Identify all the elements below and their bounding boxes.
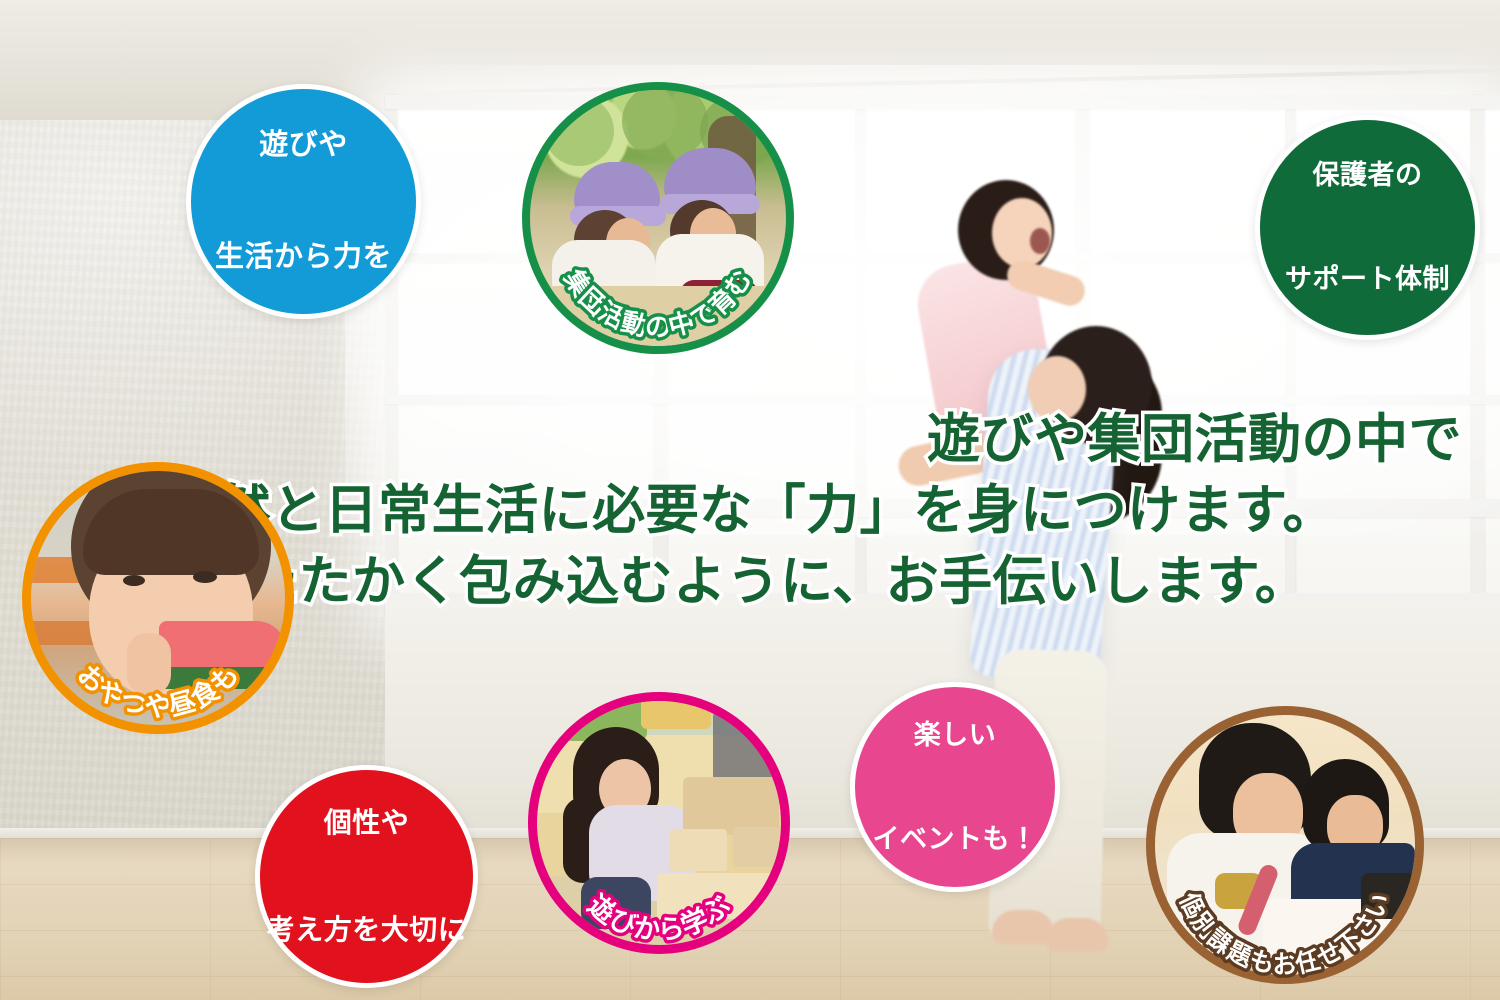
- badge-individuality[interactable]: 個性や 考え方を大切に: [255, 765, 478, 988]
- svg-text:おやつや昼食も: おやつや昼食も: [71, 659, 244, 722]
- arc-caption-snack-lunch: おやつや昼食も: [22, 462, 294, 734]
- arc-caption-homework-help: 個別課題もお任せ下さい: [1146, 706, 1424, 984]
- caption-homework-help: 個別課題もお任せ下さい: [1173, 888, 1396, 979]
- badge-fun-events-line-2: イベントも！: [873, 822, 1038, 857]
- caption-learn-by-play: 遊びから学ぶ: [582, 889, 735, 946]
- badge-play-and-life-line-1: 遊びや: [215, 127, 392, 164]
- photo-circle-learn-by-play[interactable]: 遊びから学ぶ: [528, 692, 790, 954]
- badge-fun-events-line-1: 楽しい: [873, 718, 1038, 753]
- svg-text:個別課題もお任せ下さい: 個別課題もお任せ下さい: [1173, 888, 1396, 979]
- badge-guardian-support[interactable]: 保護者の サポート体制: [1255, 115, 1480, 340]
- badge-play-and-life-line-2: 生活から力を: [215, 239, 392, 276]
- photo-circle-group-activity[interactable]: 集団活動の中で育む: [522, 82, 794, 354]
- badge-individuality-line-1: 個性や: [267, 805, 467, 841]
- badge-play-and-life[interactable]: 遊びや 生活から力を: [186, 84, 421, 319]
- badge-fun-events[interactable]: 楽しい イベントも！: [850, 682, 1060, 892]
- arc-caption-group-activity: 集団活動の中で育む: [522, 82, 794, 354]
- badge-guardian-support-line-2: サポート体制: [1285, 262, 1450, 297]
- badge-guardian-support-line-1: 保護者の: [1285, 158, 1450, 193]
- svg-text:集団活動の中で育む: 集団活動の中で育む: [558, 263, 758, 342]
- hero-banner: 遊びや集団活動の中で 自然と日常生活に必要な「力」を身につけます。 あたたかく包…: [0, 0, 1500, 1000]
- photo-circle-snack-lunch[interactable]: おやつや昼食も: [22, 462, 294, 734]
- caption-snack-lunch: おやつや昼食も: [71, 659, 244, 722]
- svg-text:遊びから学ぶ: 遊びから学ぶ: [582, 889, 735, 946]
- caption-group-activity: 集団活動の中で育む: [558, 263, 758, 342]
- badge-individuality-line-2: 考え方を大切に: [267, 912, 467, 948]
- arc-caption-learn-by-play: 遊びから学ぶ: [528, 692, 790, 954]
- photo-circle-homework-help[interactable]: 個別課題もお任せ下さい: [1146, 706, 1424, 984]
